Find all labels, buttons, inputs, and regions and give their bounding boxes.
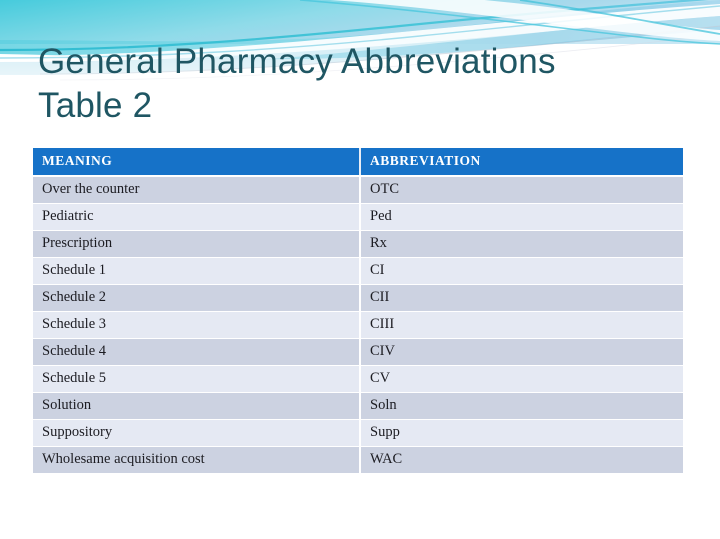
- column-header-abbreviation: ABBREVIATION: [360, 148, 683, 176]
- table-row: Over the counter OTC: [33, 176, 683, 204]
- cell-meaning: Pediatric: [33, 204, 360, 231]
- table-row: Schedule 5 CV: [33, 366, 683, 393]
- cell-abbreviation: WAC: [360, 447, 683, 474]
- page-title: General Pharmacy Abbreviations Table 2: [38, 40, 678, 128]
- cell-abbreviation: CIII: [360, 312, 683, 339]
- cell-abbreviation: CV: [360, 366, 683, 393]
- table-row: Schedule 4 CIV: [33, 339, 683, 366]
- cell-meaning: Suppository: [33, 420, 360, 447]
- table-row: Schedule 3 CIII: [33, 312, 683, 339]
- cell-abbreviation: CI: [360, 258, 683, 285]
- page-title-line-2: Table 2: [38, 84, 678, 128]
- abbreviations-table: MEANING ABBREVIATION Over the counter OT…: [33, 148, 683, 474]
- table-header-row: MEANING ABBREVIATION: [33, 148, 683, 176]
- cell-meaning: Schedule 3: [33, 312, 360, 339]
- cell-meaning: Schedule 2: [33, 285, 360, 312]
- table-header: MEANING ABBREVIATION: [33, 148, 683, 176]
- cell-abbreviation: Ped: [360, 204, 683, 231]
- page-title-line-1: General Pharmacy Abbreviations: [38, 40, 678, 84]
- table-row: Pediatric Ped: [33, 204, 683, 231]
- cell-meaning: Schedule 5: [33, 366, 360, 393]
- cell-abbreviation: Rx: [360, 231, 683, 258]
- cell-meaning: Wholesame acquisition cost: [33, 447, 360, 474]
- slide-canvas: General Pharmacy Abbreviations Table 2 M…: [0, 0, 720, 539]
- cell-abbreviation: Supp: [360, 420, 683, 447]
- cell-abbreviation: Soln: [360, 393, 683, 420]
- abbreviations-table-container: MEANING ABBREVIATION Over the counter OT…: [33, 148, 683, 474]
- cell-abbreviation: OTC: [360, 176, 683, 204]
- cell-meaning: Schedule 1: [33, 258, 360, 285]
- table-row: Solution Soln: [33, 393, 683, 420]
- cell-abbreviation: CIV: [360, 339, 683, 366]
- column-header-meaning: MEANING: [33, 148, 360, 176]
- cell-meaning: Prescription: [33, 231, 360, 258]
- table-row: Schedule 1 CI: [33, 258, 683, 285]
- cell-meaning: Solution: [33, 393, 360, 420]
- table-row: Suppository Supp: [33, 420, 683, 447]
- cell-meaning: Schedule 4: [33, 339, 360, 366]
- table-body: Over the counter OTC Pediatric Ped Presc…: [33, 176, 683, 474]
- table-row: Prescription Rx: [33, 231, 683, 258]
- table-row: Schedule 2 CII: [33, 285, 683, 312]
- cell-meaning: Over the counter: [33, 176, 360, 204]
- cell-abbreviation: CII: [360, 285, 683, 312]
- table-row: Wholesame acquisition cost WAC: [33, 447, 683, 474]
